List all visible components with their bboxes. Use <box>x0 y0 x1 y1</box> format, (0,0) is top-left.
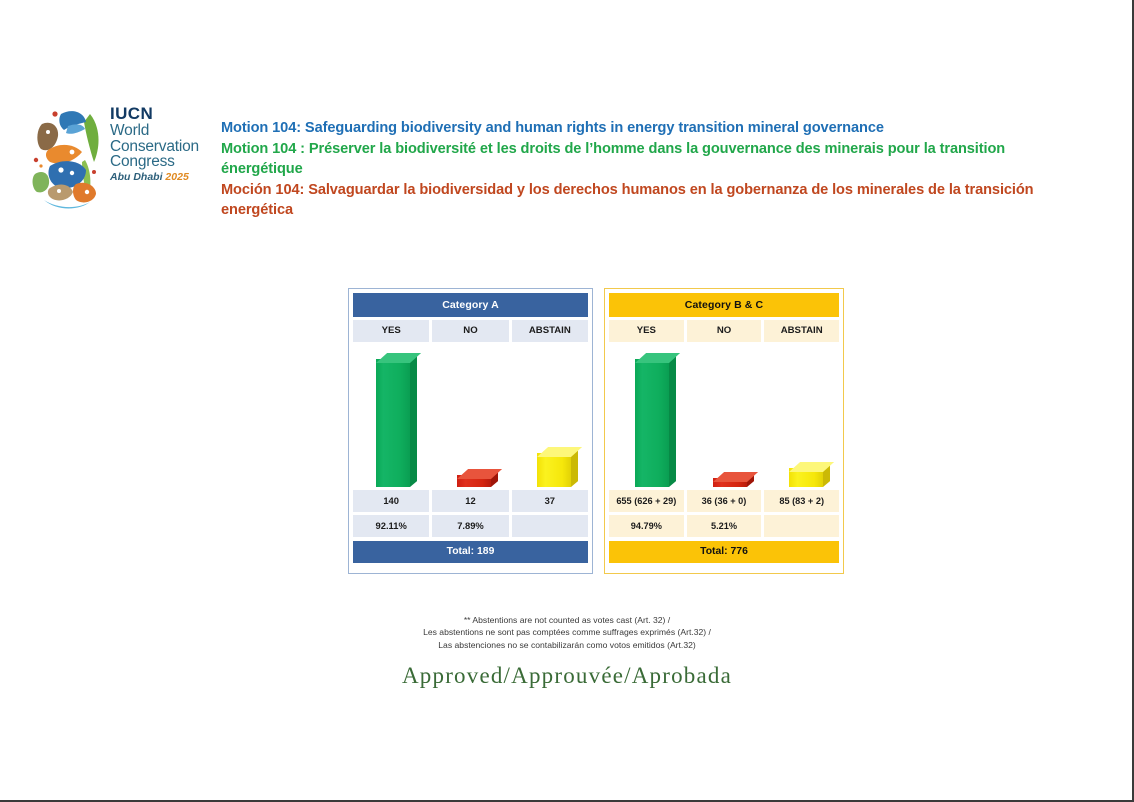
bar-no-bc <box>713 478 747 487</box>
count-no-bc: 36 (36 + 0) <box>687 490 762 512</box>
total-row-a: Total: 189 <box>353 541 588 563</box>
count-row-a: 140 12 37 <box>353 490 588 512</box>
motion-title-block: Motion 104: Safeguarding biodiversity an… <box>221 118 1066 221</box>
count-yes-bc: 655 (626 + 29) <box>609 490 684 512</box>
column-header-yes-a: YES <box>353 320 429 342</box>
logo-line-congress: Congress <box>110 154 218 170</box>
vote-results-panels: Category A YES NO ABSTAIN <box>0 288 1134 576</box>
slide-header: IUCN World Conservation Congress Abu Dha… <box>0 0 1134 240</box>
column-header-row-a: YES NO ABSTAIN <box>353 320 588 342</box>
bar-no-a <box>457 475 491 487</box>
count-yes-a: 140 <box>353 490 429 512</box>
bar-yes-a <box>376 359 410 487</box>
panel-title-category-a: Category A <box>353 293 588 317</box>
bar-abstain-a <box>537 453 571 487</box>
column-header-yes-bc: YES <box>609 320 684 342</box>
bar-chart-category-b-c <box>609 345 839 487</box>
count-no-a: 12 <box>432 490 508 512</box>
percent-yes-bc: 94.79% <box>609 515 684 537</box>
iucn-wordmark: IUCN World Conservation Congress Abu Dha… <box>110 105 218 182</box>
percent-row-a: 92.11% 7.89% <box>353 515 588 537</box>
bar-abstain-bc <box>789 468 823 487</box>
percent-abstain-bc <box>764 515 839 537</box>
count-row-bc: 655 (626 + 29) 36 (36 + 0) 85 (83 + 2) <box>609 490 839 512</box>
column-header-abstain-a: ABSTAIN <box>512 320 588 342</box>
vote-panel-category-a: Category A YES NO ABSTAIN <box>348 288 593 574</box>
iucn-logo: IUCN World Conservation Congress Abu Dha… <box>28 100 218 212</box>
motion-title-french: Motion 104 : Préserver la biodiversité e… <box>221 139 1066 180</box>
bar-chart-category-a <box>353 345 588 487</box>
column-header-no-a: NO <box>432 320 508 342</box>
panel-title-category-b-c: Category B & C <box>609 293 839 317</box>
slide-footer: ** Abstentions are not counted as votes … <box>0 614 1134 689</box>
abstention-note-spanish: Las abstenciones no se contabilizarán co… <box>0 639 1134 651</box>
vote-panel-category-b-c: Category B & C YES NO ABSTAIN <box>604 288 844 574</box>
percent-row-bc: 94.79% 5.21% <box>609 515 839 537</box>
iucn-congress-mosaic-logo-icon <box>28 100 106 210</box>
logo-location: Abu Dhabi <box>110 171 163 183</box>
bar-front-face <box>635 359 669 487</box>
logo-org-name: IUCN <box>110 105 218 122</box>
count-abstain-bc: 85 (83 + 2) <box>764 490 839 512</box>
bar-front-face <box>537 453 571 487</box>
bar-front-face <box>376 359 410 487</box>
logo-line-conservation: Conservation <box>110 139 218 155</box>
logo-year: 2025 <box>165 171 188 183</box>
percent-abstain-a <box>512 515 588 537</box>
bar-side-face <box>410 353 417 487</box>
percent-no-a: 7.89% <box>432 515 508 537</box>
logo-location-year: Abu Dhabi 2025 <box>110 172 218 183</box>
bar-yes-bc <box>635 359 669 487</box>
total-row-bc: Total: 776 <box>609 541 839 563</box>
percent-yes-a: 92.11% <box>353 515 429 537</box>
abstention-note-english: ** Abstentions are not counted as votes … <box>0 614 1134 626</box>
column-header-row-bc: YES NO ABSTAIN <box>609 320 839 342</box>
column-header-abstain-bc: ABSTAIN <box>764 320 839 342</box>
slide-page: IUCN World Conservation Congress Abu Dha… <box>0 0 1134 802</box>
motion-title-spanish: Moción 104: Salvaguardar la biodiversida… <box>221 180 1066 221</box>
column-header-no-bc: NO <box>687 320 762 342</box>
logo-line-world: World <box>110 123 218 139</box>
bar-side-face <box>669 353 676 487</box>
motion-title-english: Motion 104: Safeguarding biodiversity an… <box>221 118 1066 139</box>
count-abstain-a: 37 <box>512 490 588 512</box>
result-status: Approved/Approuvée/Aprobada <box>0 663 1134 689</box>
abstention-note-french: Les abstentions ne sont pas comptées com… <box>0 626 1134 638</box>
percent-no-bc: 5.21% <box>687 515 762 537</box>
